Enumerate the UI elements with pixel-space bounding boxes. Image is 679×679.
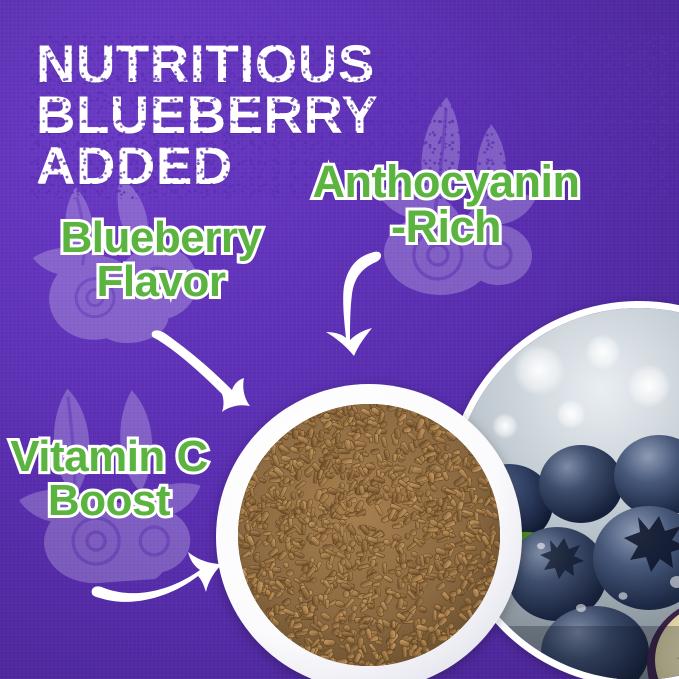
kibble-artwork <box>238 404 500 666</box>
arrow-anthocyanin-to-bowl-icon <box>312 242 410 356</box>
bowl-of-kibble <box>216 384 522 679</box>
arrow-vitamin-to-bowl-icon <box>88 530 228 616</box>
feature-label-blueberry-flavor: Blueberry Flavor <box>36 216 286 304</box>
feature-label-anthocyanin: Anthocyanin -Rich <box>287 159 605 249</box>
product-infographic: NUTRITIOUS BLUEBERRY ADDED <box>0 0 679 679</box>
headline-line-1: NUTRITIOUS BLUEBERRY <box>36 40 679 142</box>
bowl-interior <box>238 404 500 666</box>
feature-label-vitamin-c: Vitamin C Boost <box>2 435 216 523</box>
